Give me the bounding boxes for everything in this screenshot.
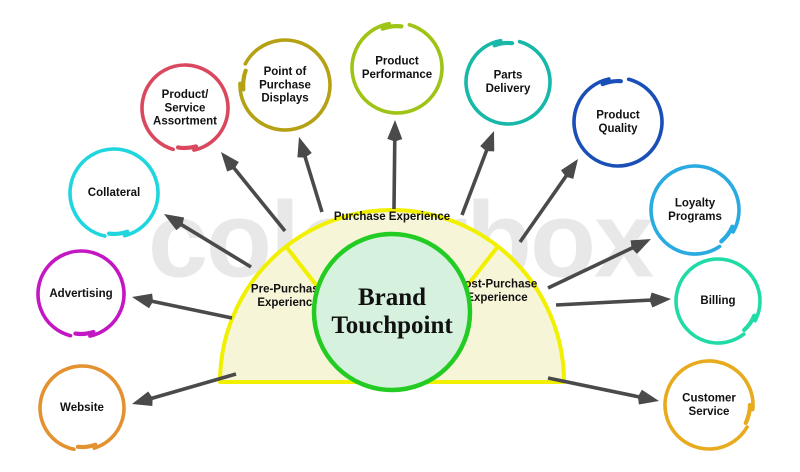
node-label-parts-delivery: PartsDelivery: [486, 70, 531, 95]
node-label-billing: Billing: [700, 295, 735, 307]
connector-advertising: [147, 300, 232, 318]
node-ring-tail-product-service-assortment: [178, 146, 196, 148]
node-billing[interactable]: Billing: [676, 259, 760, 343]
node-label-product-quality: ProductQuality: [596, 110, 640, 135]
node-ring-tail-point-of-purchase-displays: [243, 71, 246, 90]
connector-website: [146, 374, 236, 400]
node-ring-tail-product-performance: [383, 26, 402, 29]
connector-customer-service: [548, 378, 644, 398]
connector-advertising-head: [132, 294, 153, 309]
connector-customer-service-head: [638, 390, 659, 405]
node-ring-tail-collateral: [109, 232, 127, 234]
node-label-product-service-assortment: Product/ServiceAssortment: [153, 89, 217, 127]
node-ring-tail-customer-service: [746, 405, 750, 423]
connector-product-performance-head: [387, 120, 402, 141]
node-loyalty-programs[interactable]: LoyaltyPrograms: [651, 166, 739, 254]
node-advertising[interactable]: Advertising: [38, 251, 124, 336]
node-label-loyalty-programs: LoyaltyPrograms: [668, 198, 722, 223]
node-product-quality[interactable]: ProductQuality: [574, 79, 662, 166]
node-label-point-of-purchase-displays: Point ofPurchaseDisplays: [259, 66, 311, 104]
node-ring-tail-advertising: [75, 332, 93, 334]
node-label-customer-service: CustomerService: [682, 393, 736, 418]
connector-billing: [556, 300, 656, 305]
brand-touchpoint-diagram: colourbox Pre-PurchaseExperiencePurchase…: [0, 0, 800, 472]
node-collateral[interactable]: Collateral: [70, 149, 158, 236]
diagram-canvas: colourbox Pre-PurchaseExperiencePurchase…: [0, 0, 800, 472]
connector-product-performance: [394, 135, 395, 209]
node-parts-delivery[interactable]: PartsDelivery: [466, 41, 550, 124]
node-point-of-purchase-displays[interactable]: Point ofPurchaseDisplays: [240, 40, 330, 130]
node-ring-tail-product-quality: [603, 81, 621, 84]
node-label-collateral: Collateral: [88, 187, 140, 199]
node-ring-tail-website: [78, 445, 95, 447]
node-label-advertising: Advertising: [49, 288, 112, 300]
node-product-service-assortment[interactable]: Product/ServiceAssortment: [142, 65, 228, 150]
node-label-website: Website: [60, 402, 104, 414]
node-product-performance[interactable]: ProductPerformance: [352, 24, 442, 113]
node-ring-tail-billing: [744, 316, 754, 330]
connector-parts-delivery-head: [480, 131, 494, 151]
node-label-product-performance: ProductPerformance: [362, 56, 432, 81]
center-node: BrandTouchpoint: [314, 234, 470, 390]
node-website[interactable]: Website: [40, 366, 124, 449]
node-ring-tail-loyalty-programs: [721, 227, 732, 242]
node-ring-tail-parts-delivery: [495, 43, 512, 45]
connector-product-quality-head: [561, 159, 578, 179]
connector-website-head: [132, 392, 153, 406]
connector-point-of-purchase-displays-head: [297, 137, 311, 158]
connector-billing-head: [650, 293, 671, 308]
hub-wedge-label-purchase: Purchase Experience: [334, 211, 450, 223]
node-customer-service[interactable]: CustomerService: [665, 361, 753, 449]
